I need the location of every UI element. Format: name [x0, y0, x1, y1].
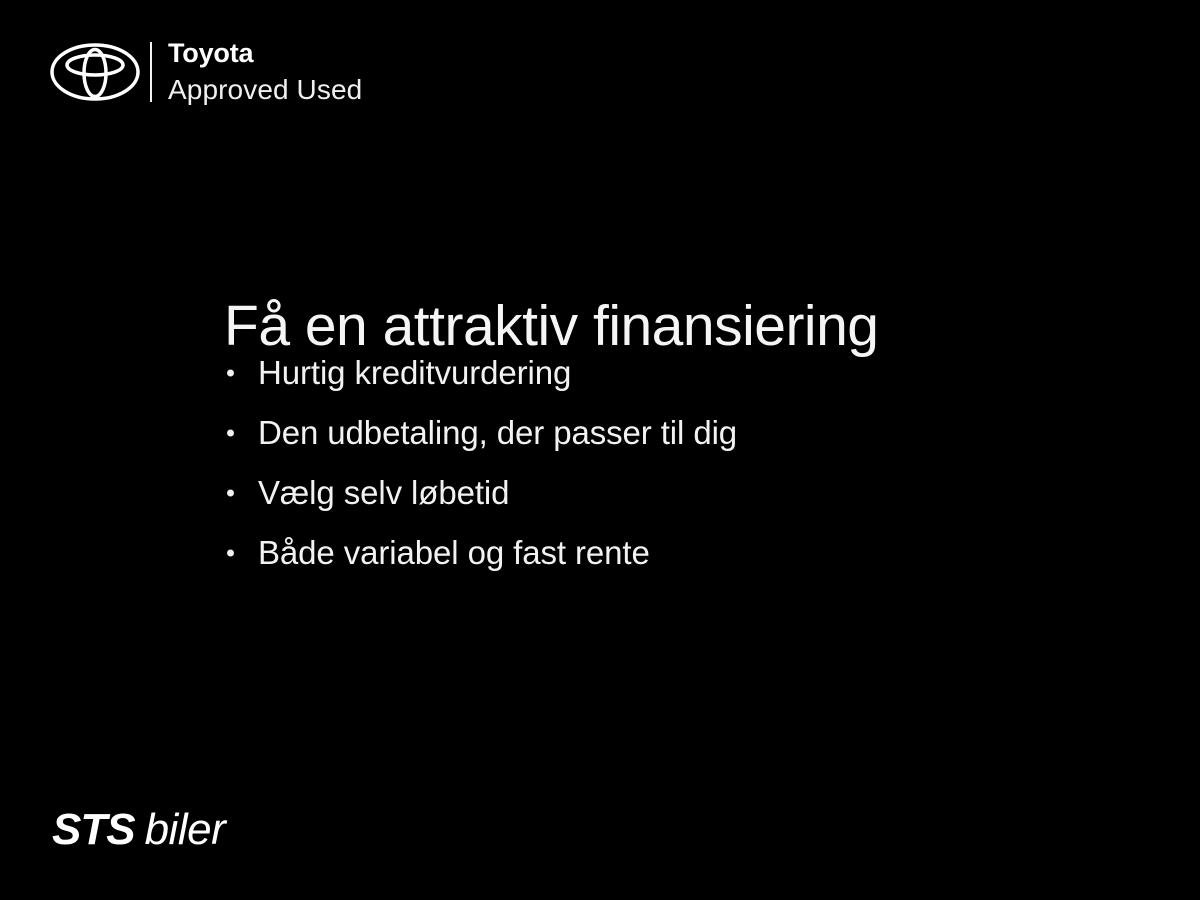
- bullet-dot-icon: [222, 523, 258, 583]
- brand-subtitle: Approved Used: [168, 76, 362, 104]
- brand-wordmark: Toyota Approved Used: [168, 40, 362, 104]
- list-item: Den udbetaling, der passer til dig: [222, 403, 737, 463]
- promo-slide: Toyota Approved Used Få en attraktiv fin…: [0, 0, 1200, 900]
- bullet-dot-icon: [222, 343, 258, 403]
- list-item: Både variabel og fast rente: [222, 523, 737, 583]
- sts-biler-logo: STS biler: [52, 808, 225, 852]
- list-item: Hurtig kreditvurdering: [222, 343, 737, 403]
- list-item-label: Hurtig kreditvurdering: [258, 343, 571, 403]
- benefit-list: Hurtig kreditvurdering Den udbetaling, d…: [222, 343, 737, 583]
- bullet-dot-icon: [222, 463, 258, 523]
- toyota-approved-used-logo: Toyota Approved Used: [50, 38, 362, 106]
- bullet-dot-icon: [222, 403, 258, 463]
- brand-name: Toyota: [168, 40, 362, 67]
- dealer-logo-light-text: biler: [145, 808, 226, 852]
- brand-divider: [150, 42, 152, 102]
- list-item-label: Den udbetaling, der passer til dig: [258, 403, 737, 463]
- dealer-logo-strong-text: STS: [52, 808, 135, 852]
- list-item-label: Vælg selv løbetid: [258, 463, 509, 523]
- toyota-emblem-icon: [50, 42, 140, 102]
- list-item: Vælg selv løbetid: [222, 463, 737, 523]
- list-item-label: Både variabel og fast rente: [258, 523, 650, 583]
